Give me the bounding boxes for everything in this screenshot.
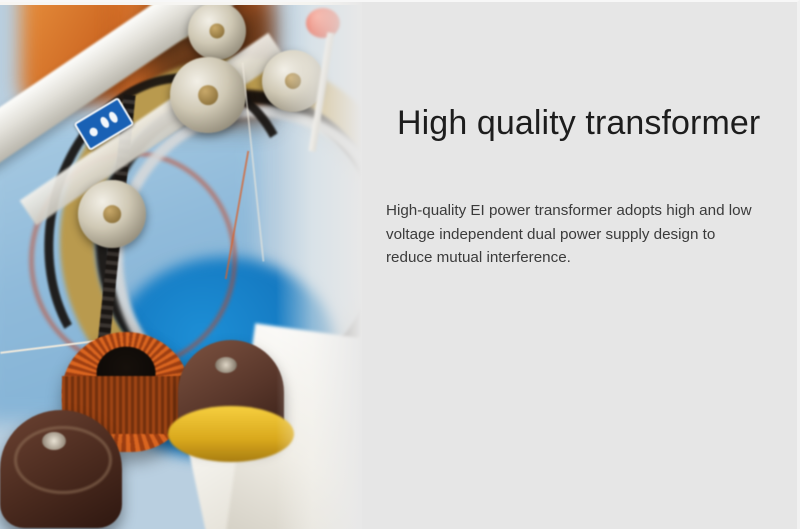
page-title: High quality transformer — [397, 105, 760, 142]
pulley-top — [188, 2, 246, 60]
product-feature-banner: High quality transformer High-quality EI… — [0, 0, 800, 529]
feature-text-block: High quality transformer High-quality EI… — [386, 2, 766, 529]
sticker-pictogram-bar-right — [107, 110, 119, 124]
pulley-main — [170, 57, 246, 133]
photo-edge-fade — [276, 2, 362, 529]
feature-description: High-quality EI power transformer adopts… — [386, 199, 762, 270]
photo-composition — [0, 2, 362, 529]
transformer-machine-photo — [0, 2, 362, 529]
bobbin-dark-ring — [14, 426, 112, 494]
pulley-lower-left — [78, 180, 146, 248]
sticker-pictogram-triangle — [88, 126, 99, 138]
